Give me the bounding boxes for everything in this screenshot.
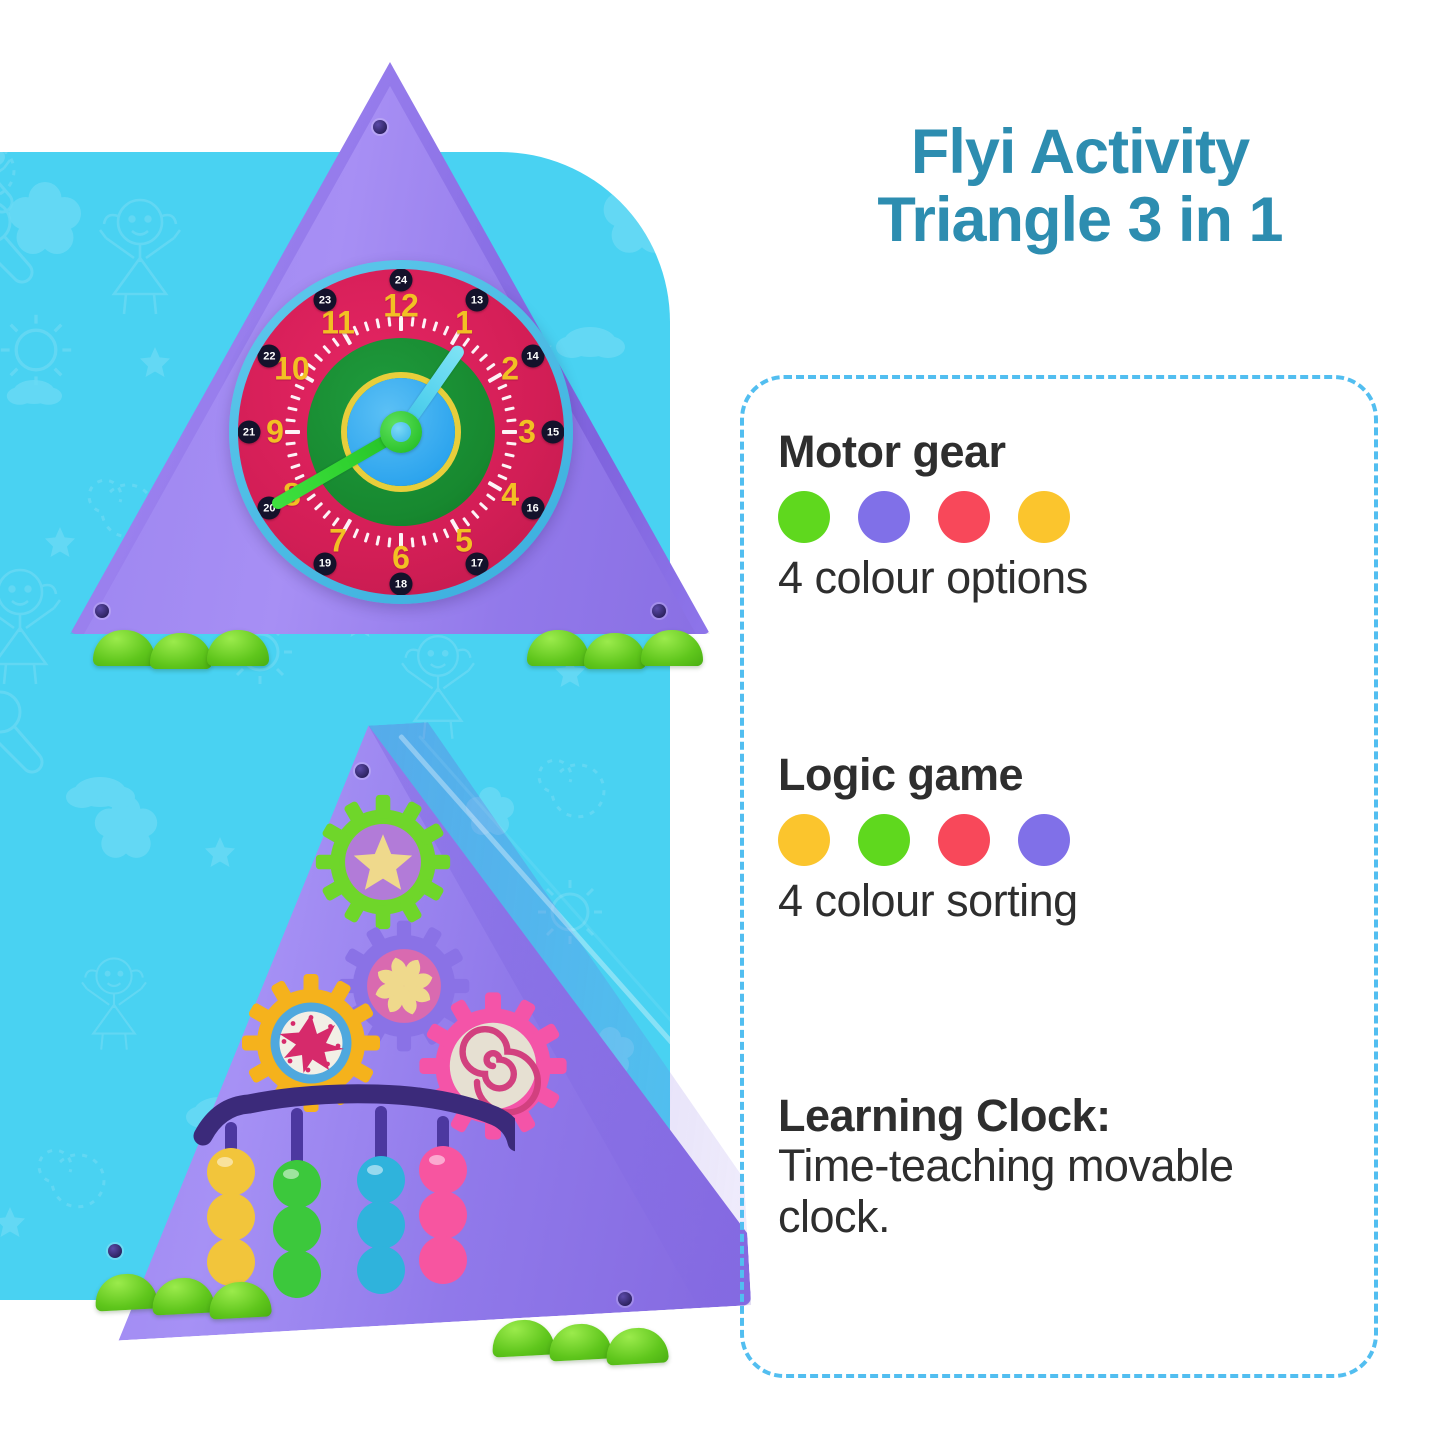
feature-heading: Motor gear: [778, 427, 1358, 477]
feature-heading: Logic game: [778, 750, 1358, 800]
clock-tick: [322, 345, 331, 354]
feature-logic-game: Logic game 4 colour sorting: [778, 750, 1358, 927]
clock-tick: [479, 353, 488, 362]
color-dot-red: [938, 491, 990, 543]
clock-hour-number: 4: [501, 477, 519, 514]
clock-face: 1234567891011121314151617181920212223245…: [238, 269, 564, 595]
clock-tick: [290, 463, 300, 469]
clock-hour-number: 3: [518, 414, 536, 451]
clock-hub-cap: [391, 422, 411, 442]
clock-24h-badge: 18: [390, 573, 413, 596]
gear-triangle-photo: [40, 712, 740, 1402]
color-dot-yellow: [1018, 491, 1070, 543]
clock-tick: [375, 318, 380, 328]
color-dot-green: [858, 814, 910, 866]
screw-icon: [618, 1292, 632, 1306]
clock-tick: [501, 463, 511, 469]
screw-icon: [95, 604, 109, 618]
triangle-foot: [93, 630, 155, 666]
clock-tick: [487, 481, 502, 492]
clock-tick: [422, 535, 427, 545]
triangle-foot: [641, 630, 703, 666]
clock-24h-badge: 19: [314, 552, 337, 575]
feature-caption: 4 colour options: [778, 553, 1358, 603]
screw-icon: [108, 1244, 122, 1258]
feature-caption: Time-teaching movable clock.: [778, 1141, 1298, 1242]
clock-tick: [443, 528, 450, 538]
clock-tick: [285, 430, 300, 434]
clock-hour-number: 12: [383, 288, 419, 325]
clock-tick: [287, 453, 297, 458]
clock-hour-number: 6: [392, 540, 410, 577]
clock-tick: [322, 510, 331, 519]
triangle-foot: [491, 1318, 555, 1357]
clock-tick: [352, 528, 359, 538]
clock-tick: [501, 395, 511, 401]
clock-tick: [364, 321, 370, 331]
clock-24h-badge: 21: [238, 421, 261, 444]
clock-tick: [422, 318, 427, 328]
product-photo-panel: 1234567891011121314151617181920212223245…: [0, 0, 730, 1445]
star-gear[interactable]: [310, 789, 456, 935]
clock-tick: [443, 325, 450, 335]
clock-tick: [486, 493, 496, 501]
clock-tick: [285, 418, 295, 422]
screw-icon: [373, 120, 387, 134]
clock-tick: [432, 532, 438, 542]
clock-tick: [364, 532, 370, 542]
triangle-foot: [548, 1322, 612, 1361]
triangle-foot: [207, 630, 269, 666]
color-dot-red: [938, 814, 990, 866]
info-panel: Flyi Activity Triangle 3 in 1 Motor gear…: [722, 0, 1445, 1445]
clock-tick: [506, 418, 516, 422]
clock-tick: [375, 535, 380, 545]
title-line-2: Triangle 3 in 1: [730, 186, 1430, 254]
clock-tick: [387, 537, 391, 547]
screw-icon: [652, 604, 666, 618]
clock-tick: [306, 493, 316, 501]
screw-icon: [355, 764, 369, 778]
learning-clock[interactable]: 1234567891011121314151617181920212223245…: [229, 260, 573, 604]
clock-tick: [502, 430, 517, 434]
feature-motor-gear: Motor gear 4 colour options: [778, 427, 1358, 604]
pink-beads: [419, 1146, 467, 1284]
clock-24h-badge: 16: [521, 497, 544, 520]
color-dot-purple: [1018, 814, 1070, 866]
triangle-foot: [584, 633, 646, 669]
clock-24h-badge: 22: [258, 345, 281, 368]
clock-24h-badge: 15: [542, 421, 565, 444]
triangle-foot: [150, 633, 212, 669]
clock-24h-badge: 24: [390, 269, 413, 292]
triangle-foot: [605, 1326, 669, 1365]
clock-24h-badge: 14: [521, 345, 544, 368]
clock-tick: [285, 442, 295, 446]
bead-maze[interactable]: [185, 1084, 515, 1314]
clock-tick: [479, 502, 488, 511]
clock-tick: [504, 453, 514, 458]
clock-hour-number: 2: [501, 351, 519, 388]
infographic-root: 1234567891011121314151617181920212223245…: [0, 0, 1445, 1445]
clock-24h-badge: 23: [314, 289, 337, 312]
green-beads: [273, 1160, 321, 1298]
bead-track: [203, 1094, 515, 1142]
page-title: Flyi Activity Triangle 3 in 1: [730, 118, 1430, 254]
clock-tick: [290, 395, 300, 401]
clock-tick: [314, 502, 323, 511]
feature-heading: Learning Clock:: [778, 1091, 1358, 1141]
feature-list-box: Motor gear 4 colour options Logic game: [740, 375, 1378, 1378]
cyan-beads: [357, 1156, 405, 1294]
color-dot-purple: [858, 491, 910, 543]
color-dot-green: [778, 491, 830, 543]
feature-color-dots: [778, 491, 1358, 543]
clock-24h-badge: 13: [466, 289, 489, 312]
clock-tick: [411, 537, 415, 547]
clock-triangle-photo: 1234567891011121314151617181920212223245…: [55, 62, 720, 682]
clock-hour-number: 9: [266, 414, 284, 451]
clock-tick: [506, 442, 516, 446]
clock-tick: [504, 406, 514, 411]
clock-tick: [432, 321, 438, 331]
feature-color-dots: [778, 814, 1358, 866]
bead-rods: [231, 1112, 443, 1180]
yellow-beads: [207, 1148, 255, 1286]
clock-tick: [287, 406, 297, 411]
clock-tick: [471, 510, 480, 519]
clock-tick: [314, 353, 323, 362]
triangle-foot: [527, 630, 589, 666]
clock-tick: [487, 372, 502, 383]
feature-caption: 4 colour sorting: [778, 876, 1358, 926]
clock-24h-badge: 17: [466, 552, 489, 575]
clock-tick: [471, 345, 480, 354]
title-line-1: Flyi Activity: [730, 118, 1430, 186]
color-dot-yellow: [778, 814, 830, 866]
clock-tick: [486, 363, 496, 371]
feature-learning-clock: Learning Clock: Time-teaching movable cl…: [778, 1091, 1358, 1242]
